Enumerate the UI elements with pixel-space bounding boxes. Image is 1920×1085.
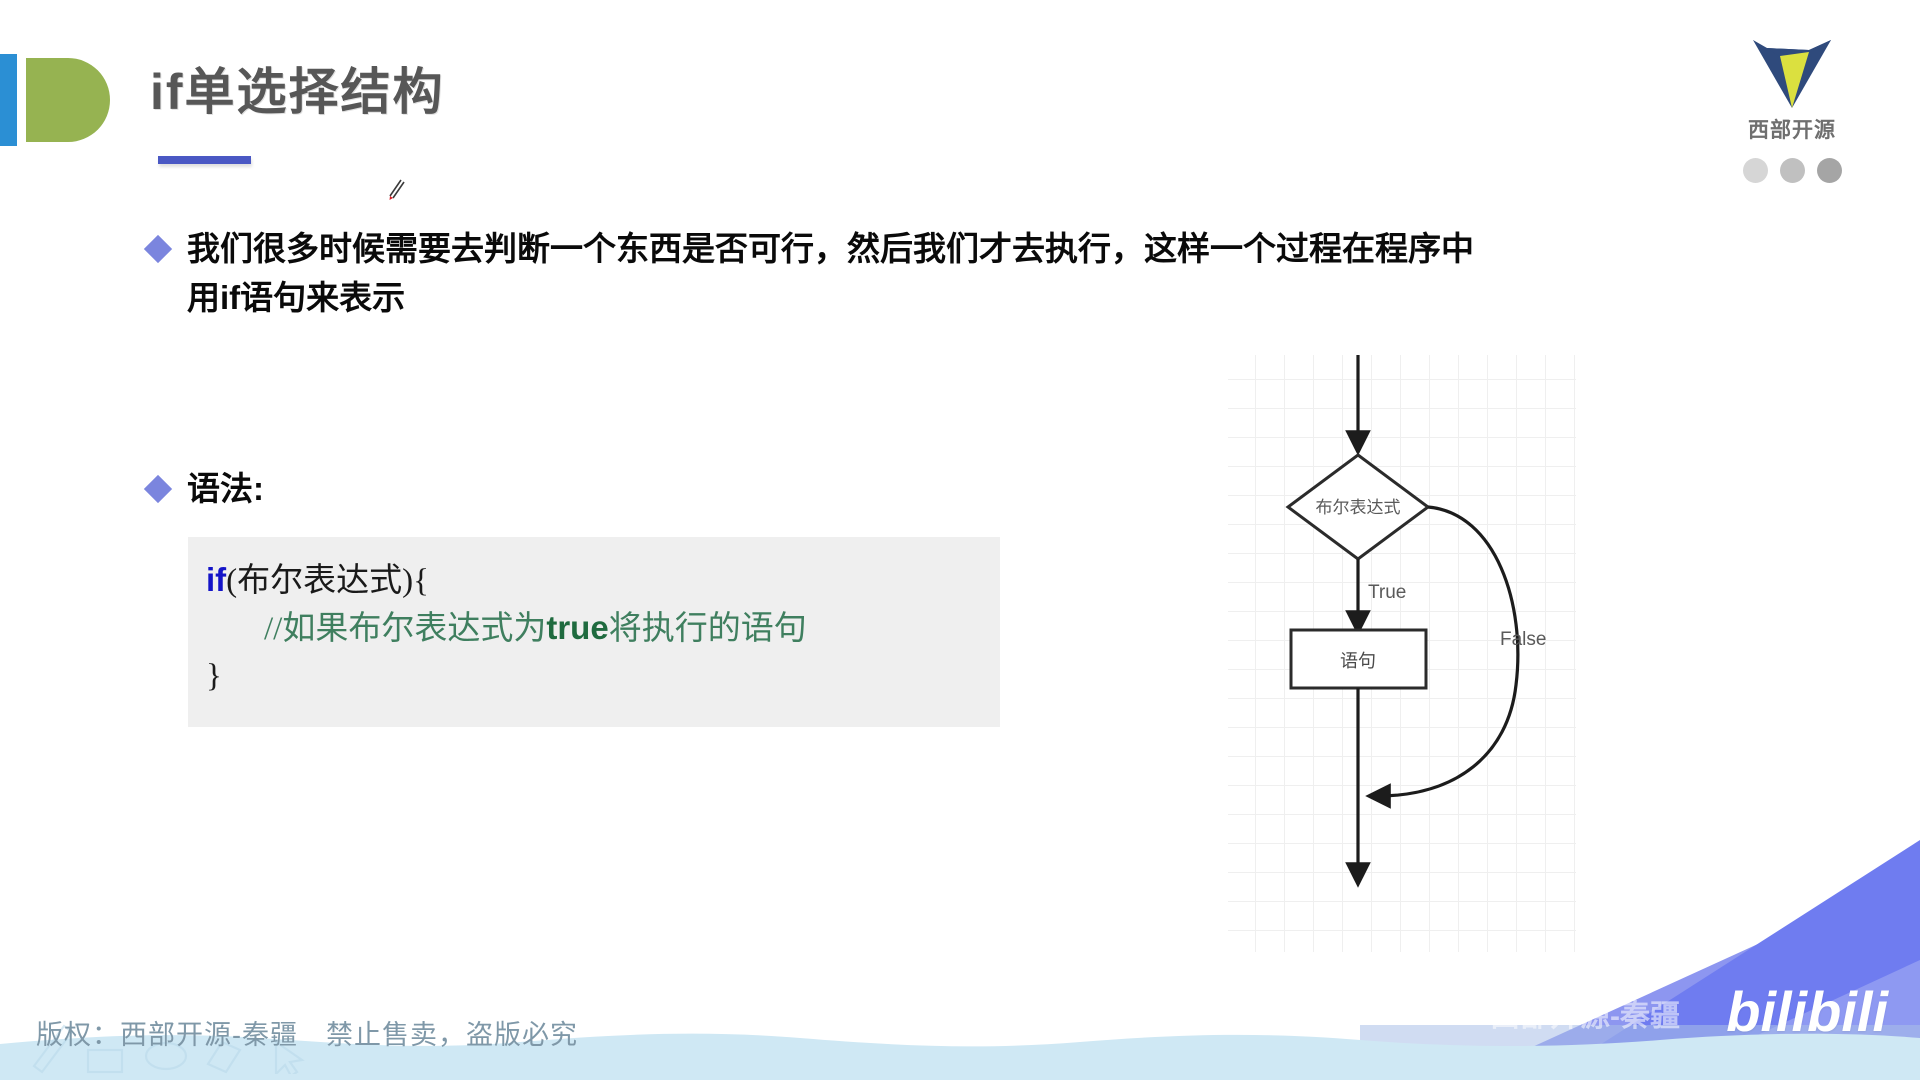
slide-decoration xyxy=(0,48,116,150)
brand-name: 西部开源 xyxy=(1722,114,1862,144)
flowchart-process-label: 语句 xyxy=(1340,651,1376,671)
flowchart-svg: 布尔表达式 True 语句 False xyxy=(1228,355,1576,952)
pen-cursor-icon xyxy=(385,178,407,202)
brand-dot-2 xyxy=(1780,158,1805,183)
diamond-bullet-icon xyxy=(144,235,172,263)
code-sample-block: if(布尔表达式){ //如果布尔表达式为true将执行的语句 } xyxy=(188,537,1000,727)
flowchart-panel: 布尔表达式 True 语句 False xyxy=(1228,355,1576,952)
code-comment-after: 将执行的语句 xyxy=(609,611,807,647)
code-comment-before: //如果布尔表达式为 xyxy=(264,611,546,647)
bullet-syntax: 语法: xyxy=(148,465,648,514)
brand-dot-3 xyxy=(1817,158,1842,183)
bullet-intro-text: 我们很多时候需要去判断一个东西是否可行，然后我们才去执行，这样一个过程在程序中用… xyxy=(187,225,1478,323)
code-line-2: //如果布尔表达式为true将执行的语句 xyxy=(206,605,1000,653)
brand-dot-1 xyxy=(1743,158,1768,183)
page-title: if单选择结构 xyxy=(150,52,445,124)
code-line-1-rest: (布尔表达式){ xyxy=(226,563,429,599)
code-line-1: if(布尔表达式){ xyxy=(206,557,1000,605)
code-keyword-if: if xyxy=(206,561,226,598)
brand-dots xyxy=(1722,158,1862,183)
triangle-arrow-logo-icon xyxy=(1747,26,1837,112)
code-line-3: } xyxy=(206,653,1000,700)
brand-logo: 西部开源 xyxy=(1722,26,1862,183)
code-literal-true: true xyxy=(546,609,608,646)
bullet-intro: 我们很多时候需要去判断一个东西是否可行，然后我们才去执行，这样一个过程在程序中用… xyxy=(148,225,1478,323)
diamond-bullet-icon xyxy=(144,475,172,503)
decoration-green-shape xyxy=(26,58,110,142)
title-underline xyxy=(158,156,251,164)
flowchart-false-label: False xyxy=(1500,629,1546,650)
flowchart-true-label: True xyxy=(1368,582,1406,603)
decoration-blue-bar xyxy=(0,54,17,146)
frame-doodle-icon xyxy=(88,1050,122,1072)
bullet-syntax-text: 语法: xyxy=(187,465,264,514)
flowchart-decision-label: 布尔表达式 xyxy=(1316,498,1401,517)
footer-copyright: 版权：西部开源-秦疆 禁止售卖，盗版必究 xyxy=(36,1013,578,1052)
